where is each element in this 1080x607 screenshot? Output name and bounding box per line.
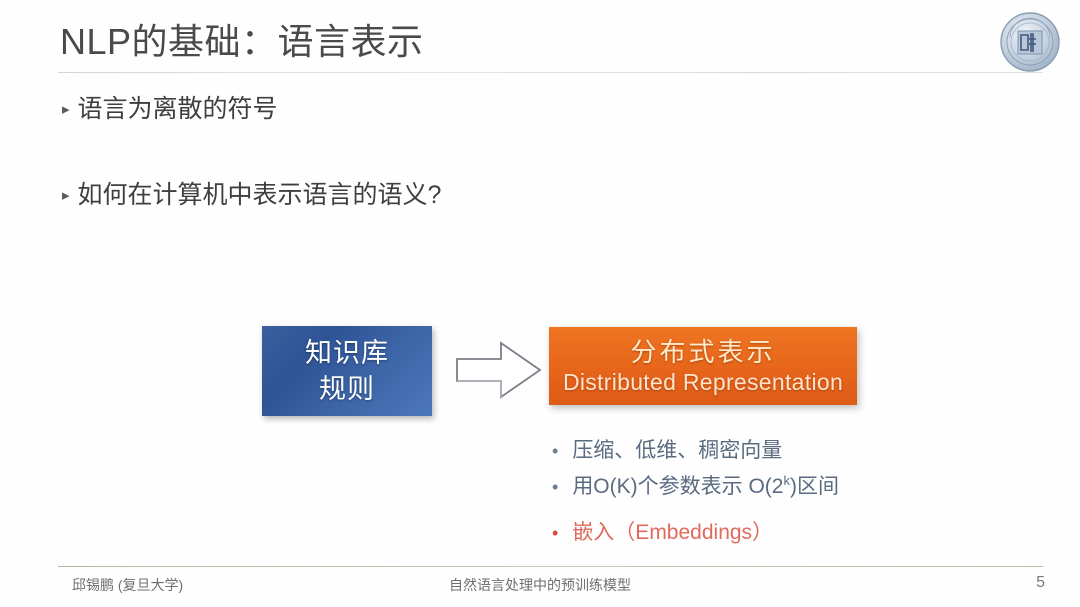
param-text-suffix: )区间	[790, 475, 839, 498]
bullet-dot-icon: •	[552, 436, 558, 466]
bullet-dot-icon: •	[552, 518, 558, 548]
knowledge-box-line-2: 规则	[319, 371, 375, 407]
footer-divider	[58, 566, 1043, 567]
distributed-representation-box: 分布式表示 Distributed Representation	[549, 327, 857, 405]
right-arrow-icon	[455, 335, 543, 405]
sub-bullet-list: • 压缩、低维、稠密向量 • 用O(K)个参数表示 O(2k)区间 • 嵌入（E…	[552, 436, 982, 548]
sub-bullet-embeddings: • 嵌入（Embeddings）	[552, 518, 982, 548]
fudan-seal-logo-icon	[996, 8, 1064, 76]
sub-bullet-compression: • 压缩、低维、稠密向量	[552, 436, 982, 466]
bullet-item-2-label: 如何在计算机中表示语言的语义?	[78, 178, 442, 212]
knowledge-box-line-1: 知识库	[305, 335, 389, 371]
title-divider	[58, 72, 1043, 73]
sub-bullet-compression-label: 压缩、低维、稠密向量	[572, 436, 782, 466]
sub-bullet-parameters: • 用O(K)个参数表示 O(2k)区间	[552, 466, 982, 496]
bullet-item-1: ▸ 语言为离散的符号	[62, 92, 278, 126]
param-text-prefix: 用O(K)个参数表示 O(2	[572, 475, 783, 498]
bullet-triangle-icon: ▸	[62, 179, 70, 213]
footer-page-number: 5	[0, 573, 1045, 593]
bullet-triangle-icon: ▸	[62, 93, 70, 127]
sub-bullet-embeddings-label: 嵌入（Embeddings）	[572, 518, 773, 548]
slide-canvas: NLP的基础：语言表示 ▸ 语言为离散的符号 ▸ 如何在计算机中表示语言的	[0, 0, 1080, 607]
sub-bullet-parameters-label: 用O(K)个参数表示 O(2k)区间	[572, 466, 839, 502]
page-title: NLP的基础：语言表示	[60, 16, 920, 68]
title-block: NLP的基础：语言表示	[60, 16, 920, 68]
bullet-dot-icon: •	[552, 472, 558, 502]
knowledge-base-box: 知识库 规则	[262, 326, 432, 416]
bullet-item-2: ▸ 如何在计算机中表示语言的语义?	[62, 178, 441, 212]
distributed-box-chinese-label: 分布式表示	[630, 336, 775, 368]
bullet-item-1-label: 语言为离散的符号	[78, 92, 278, 126]
distributed-box-english-label: Distributed Representation	[563, 368, 843, 396]
